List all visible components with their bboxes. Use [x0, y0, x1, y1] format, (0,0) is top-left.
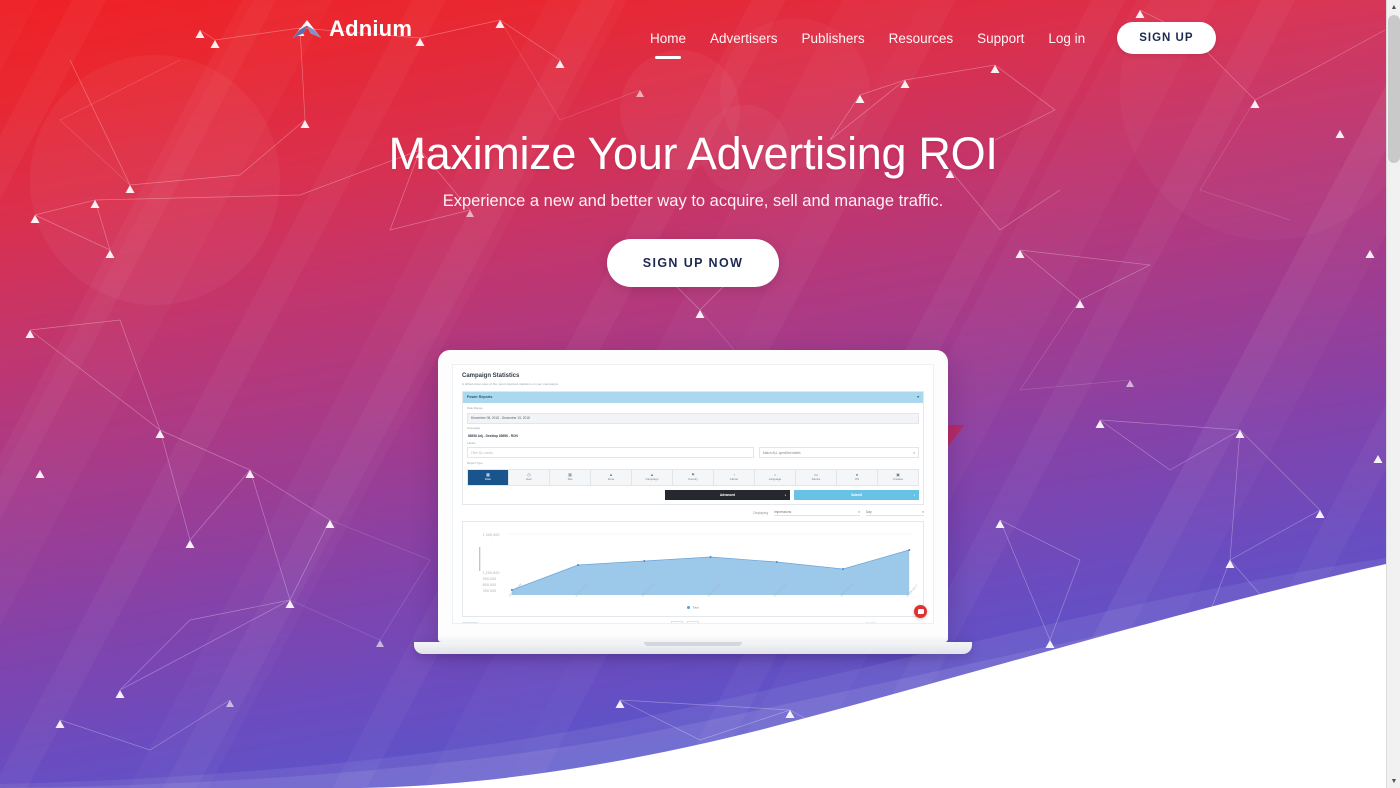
nav-item-support[interactable]: Support: [965, 27, 1036, 50]
panel-action-buttons: Advanced Submit: [467, 490, 919, 500]
date-range-input[interactable]: December 08, 2018 - December 15, 2018: [467, 413, 919, 424]
brand-name: Adnium: [329, 18, 412, 40]
report-tab-label: Hour: [526, 477, 532, 481]
displaying-label: Displaying: [753, 511, 768, 515]
chevron-down-icon: [680, 749, 706, 765]
power-reports-panel-body: Date Range December 08, 2018 - December …: [463, 403, 923, 504]
displaying-metric-select[interactable]: Impressions ▾: [774, 510, 860, 516]
labels-label: Labels: [467, 442, 919, 446]
report-tab-label: Date: [485, 477, 491, 481]
chevron-up-icon[interactable]: ▾: [917, 395, 919, 400]
power-reports-panel-header[interactable]: Power Reports ▾: [463, 392, 923, 403]
nav-item-publishers[interactable]: Publishers: [790, 27, 877, 50]
displaying-grouping-select[interactable]: Day ▾: [866, 510, 924, 516]
signup-button[interactable]: SIGN UP: [1117, 22, 1215, 54]
report-tab-campaign[interactable]: ▲ Campaign: [632, 470, 673, 485]
hero-section: .ln { stroke: rgba(255,255,255,0.32); st…: [0, 0, 1386, 788]
chevron-down-icon: ▾: [913, 451, 915, 455]
arrow-chevron-logo-icon: [292, 18, 322, 40]
svg-text:1,500,000: 1,500,000: [483, 533, 500, 537]
nav-item-advertisers[interactable]: Advertisers: [698, 27, 790, 50]
displaying-controls: Displaying Impressions ▾ Day ▾: [462, 510, 924, 516]
label-match-value: Match ALL specified labels: [763, 451, 801, 455]
report-tab-label: Zone: [608, 477, 614, 481]
chevron-down-icon: ▾: [858, 510, 860, 514]
nav-item-resources[interactable]: Resources: [877, 27, 966, 50]
report-tab-label: Country: [688, 477, 698, 481]
report-tab-device[interactable]: ▭ Device: [796, 470, 837, 485]
browser-scrollbar[interactable]: ▲ ▼: [1386, 0, 1400, 788]
advanced-button[interactable]: Advanced: [665, 490, 790, 500]
dashboard-subtitle: A drilled-down view of the most importan…: [462, 382, 924, 386]
scrollbar-up-arrow-icon[interactable]: ▲: [1387, 0, 1400, 14]
nav-links: Home Advertisers Publishers Resources Su…: [638, 22, 1216, 54]
displaying-grouping-value: Day: [866, 510, 872, 514]
power-reports-panel-title: Power Reports: [467, 395, 492, 400]
label-match-select[interactable]: Match ALL specified labels ▾: [759, 447, 919, 458]
report-tab-zone[interactable]: ▲ Zone: [591, 470, 632, 485]
report-tab-label: Campaign: [646, 477, 659, 481]
submit-button[interactable]: Submit: [794, 490, 919, 500]
report-tab-creative[interactable]: ▣ Creative: [878, 470, 918, 485]
page-viewport: .ln { stroke: rgba(255,255,255,0.32); st…: [0, 0, 1400, 788]
dashboard-title: Campaign Statistics: [462, 372, 924, 380]
report-tab-label: Creative: [893, 477, 903, 481]
scrollbar-thumb[interactable]: [1388, 15, 1400, 163]
report-tab-site[interactable]: ▦ Site: [550, 470, 591, 485]
hero-cta-wrap: SIGN UP NOW: [0, 239, 1386, 287]
chevron-down-icon: ▾: [922, 510, 924, 514]
campaign-label: Campaign: [467, 427, 919, 431]
report-tab-os[interactable]: ● OS: [837, 470, 878, 485]
displaying-metric-value: Impressions: [774, 510, 791, 514]
labels-filter-row: Filter By Labels Match ALL specified lab…: [467, 447, 919, 458]
campaign-value: 88956 Adj - Desktop 88956 - RON: [467, 433, 919, 438]
hero-copy: Maximize Your Advertising ROI Experience…: [0, 128, 1386, 287]
nav-item-home[interactable]: Home: [638, 27, 698, 50]
top-navigation-bar: Adnium Home Advertisers Publishers Resou…: [0, 0, 1386, 65]
nav-item-login[interactable]: Log in: [1036, 27, 1097, 50]
report-tab-carrier[interactable]: ↑ Carrier: [714, 470, 755, 485]
report-tab-date[interactable]: ▦ Date: [468, 470, 509, 485]
power-reports-panel: Power Reports ▾ Date Range December 08, …: [462, 391, 924, 505]
report-tab-label: Language: [769, 477, 781, 481]
scroll-down-indicator[interactable]: [680, 749, 706, 770]
labels-filter-input[interactable]: Filter By Labels: [467, 447, 754, 458]
signup-now-button[interactable]: SIGN UP NOW: [607, 239, 780, 287]
report-tab-country[interactable]: ⚑ Country: [673, 470, 714, 485]
report-tab-label: Site: [568, 477, 573, 481]
date-range-label: Date Range: [467, 407, 919, 411]
brand-logo[interactable]: Adnium: [292, 18, 412, 40]
report-tab-label: Carrier: [730, 477, 739, 481]
report-tab-label: OS: [855, 477, 859, 481]
hero-headline: Maximize Your Advertising ROI: [0, 128, 1386, 180]
report-tab-hour[interactable]: ◷ Hour: [509, 470, 550, 485]
hero-subheadline: Experience a new and better way to acqui…: [0, 192, 1386, 211]
scrollbar-down-arrow-icon[interactable]: ▼: [1387, 774, 1400, 788]
report-tab-language[interactable]: ○ Language: [755, 470, 796, 485]
report-type-label: Report Type: [467, 462, 919, 466]
report-type-tabs: ▦ Date ◷ Hour ▦ Site: [467, 469, 919, 486]
report-tab-label: Device: [812, 477, 821, 481]
